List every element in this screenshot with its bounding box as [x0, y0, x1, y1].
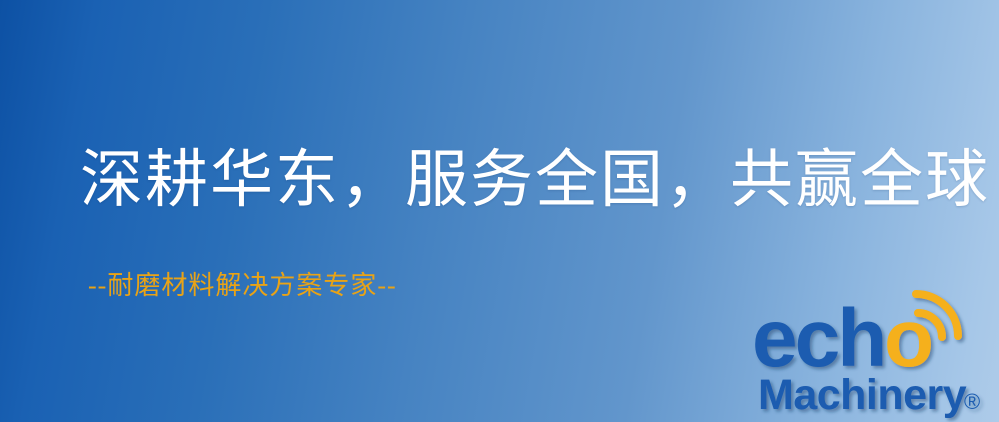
company-logo[interactable]: ech o Machinery ®	[752, 292, 999, 422]
page-title: 深耕华东，服务全国，共赢全球	[80, 146, 990, 214]
registered-trademark-icon: ®	[964, 389, 980, 414]
page-subtitle: --耐磨材料解决方案专家--	[88, 265, 397, 302]
logo-text-machinery: Machinery	[758, 371, 967, 419]
hero-banner: 深耕华东，服务全国，共赢全球 --耐磨材料解决方案专家-- ech o Mach…	[0, 0, 999, 422]
